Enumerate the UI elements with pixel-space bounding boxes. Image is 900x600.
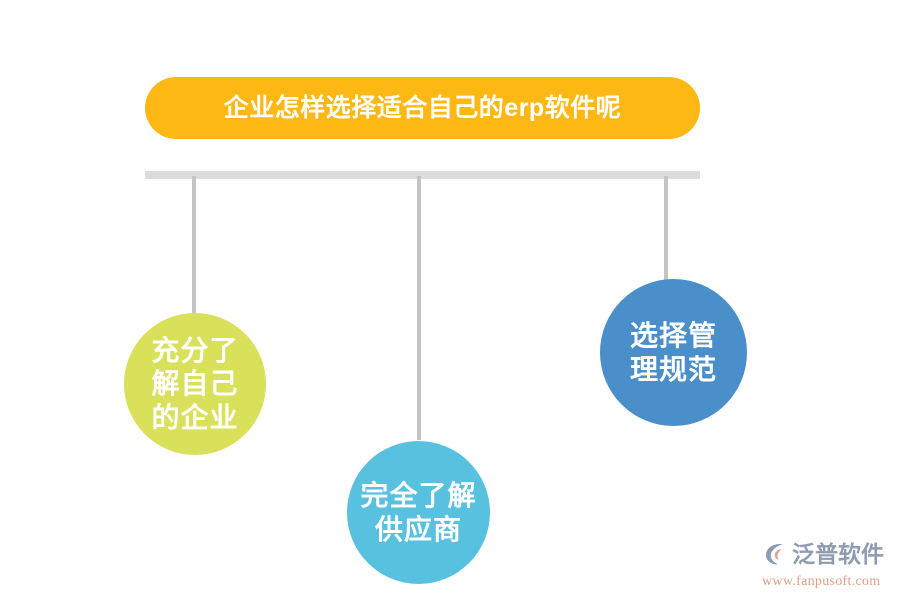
watermark-logo-row: 泛普软件 (762, 538, 892, 570)
diagram-node-2: 完全了解供应商 (347, 441, 490, 584)
watermark-url: www.fanpusoft.com (762, 574, 892, 590)
diagram-node-1: 充分了解自己的企业 (124, 313, 266, 455)
fanpu-logo-icon (762, 541, 788, 567)
diagram-node-3-label: 选择管理规范 (626, 319, 722, 385)
connector-line-3 (664, 176, 668, 280)
watermark-brand-name: 泛普软件 (792, 543, 884, 566)
diagram-title-text: 企业怎样选择适合自己的erp软件呢 (224, 96, 621, 121)
connector-line-2 (417, 176, 421, 440)
diagram-title-pill: 企业怎样选择适合自己的erp软件呢 (145, 77, 700, 139)
diagram-node-1-label: 充分了解自己的企业 (149, 334, 241, 433)
watermark-logo: 泛普软件 www.fanpusoft.com (762, 538, 892, 594)
diagram-node-2-label: 完全了解供应商 (359, 479, 479, 545)
diagram-node-3: 选择管理规范 (600, 279, 747, 426)
diagram-canvas: 企业怎样选择适合自己的erp软件呢 充分了解自己的企业 完全了解供应商 选择管理… (0, 0, 900, 600)
diagram-horizontal-bar (145, 171, 700, 179)
connector-line-1 (192, 176, 196, 315)
